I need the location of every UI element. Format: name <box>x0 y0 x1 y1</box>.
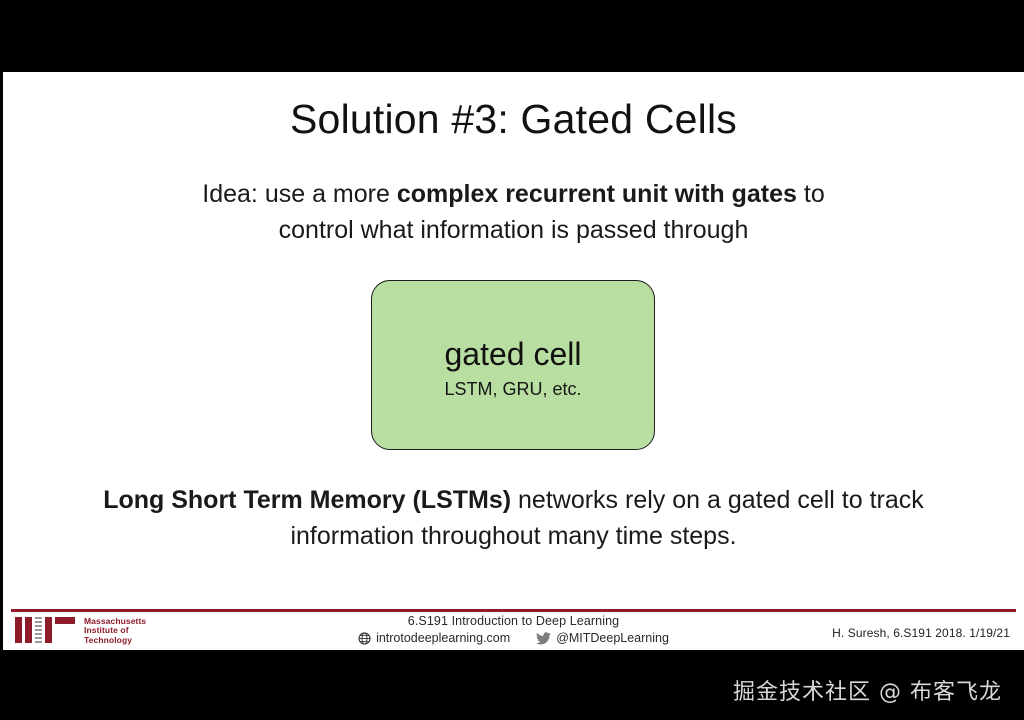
website-label: introtodeeplearning.com <box>376 631 510 645</box>
twitter-label: @MITDeepLearning <box>556 631 669 645</box>
mit-logo-bar <box>45 617 52 643</box>
mit-logo-bar-striped <box>35 617 42 643</box>
mit-logo-bar <box>25 617 32 643</box>
slide-footer: Massachusetts Institute of Technology 6.… <box>3 612 1024 650</box>
lstm-text-emphasis: Long Short Term Memory (LSTMs) <box>103 486 511 514</box>
gated-cell-box: gated cell LSTM, GRU, etc. <box>371 280 655 450</box>
watermark: 掘金技术社区 @ 布客飞龙 <box>733 674 1002 706</box>
footer-links: introtodeeplearning.com @MITDeepLearning <box>304 631 724 645</box>
mit-wordmark-line3: Technology <box>84 636 146 645</box>
video-frame: Solution #3: Gated Cells Idea: use a mor… <box>0 0 1024 720</box>
mit-wordmark: Massachusetts Institute of Technology <box>84 617 146 645</box>
gated-cell-title: gated cell <box>445 338 582 372</box>
idea-text-before: Idea: use a more <box>202 180 397 208</box>
presentation-slide: Solution #3: Gated Cells Idea: use a mor… <box>3 72 1024 650</box>
mit-logo-bar <box>15 617 22 643</box>
gated-cell-subtitle: LSTM, GRU, etc. <box>444 379 581 400</box>
idea-paragraph: Idea: use a more complex recurrent unit … <box>164 176 864 248</box>
idea-text-emphasis: complex recurrent unit with gates <box>397 180 797 208</box>
mit-logo: Massachusetts Institute of Technology <box>15 617 146 645</box>
globe-icon <box>358 632 371 645</box>
mit-logo-mark <box>15 617 75 643</box>
course-title: 6.S191 Introduction to Deep Learning <box>304 614 724 628</box>
author-credit: H. Suresh, 6.S191 2018. 1/19/21 <box>832 626 1010 640</box>
page-title: Solution #3: Gated Cells <box>3 96 1024 143</box>
lstm-paragraph: Long Short Term Memory (LSTMs) networks … <box>94 482 934 554</box>
footer-course-credit: 6.S191 Introduction to Deep Learning <box>304 614 724 645</box>
website-link[interactable]: introtodeeplearning.com <box>358 631 510 645</box>
mit-logo-bar-short <box>55 617 75 624</box>
twitter-bird-icon <box>536 632 551 645</box>
twitter-link[interactable]: @MITDeepLearning <box>536 631 669 645</box>
